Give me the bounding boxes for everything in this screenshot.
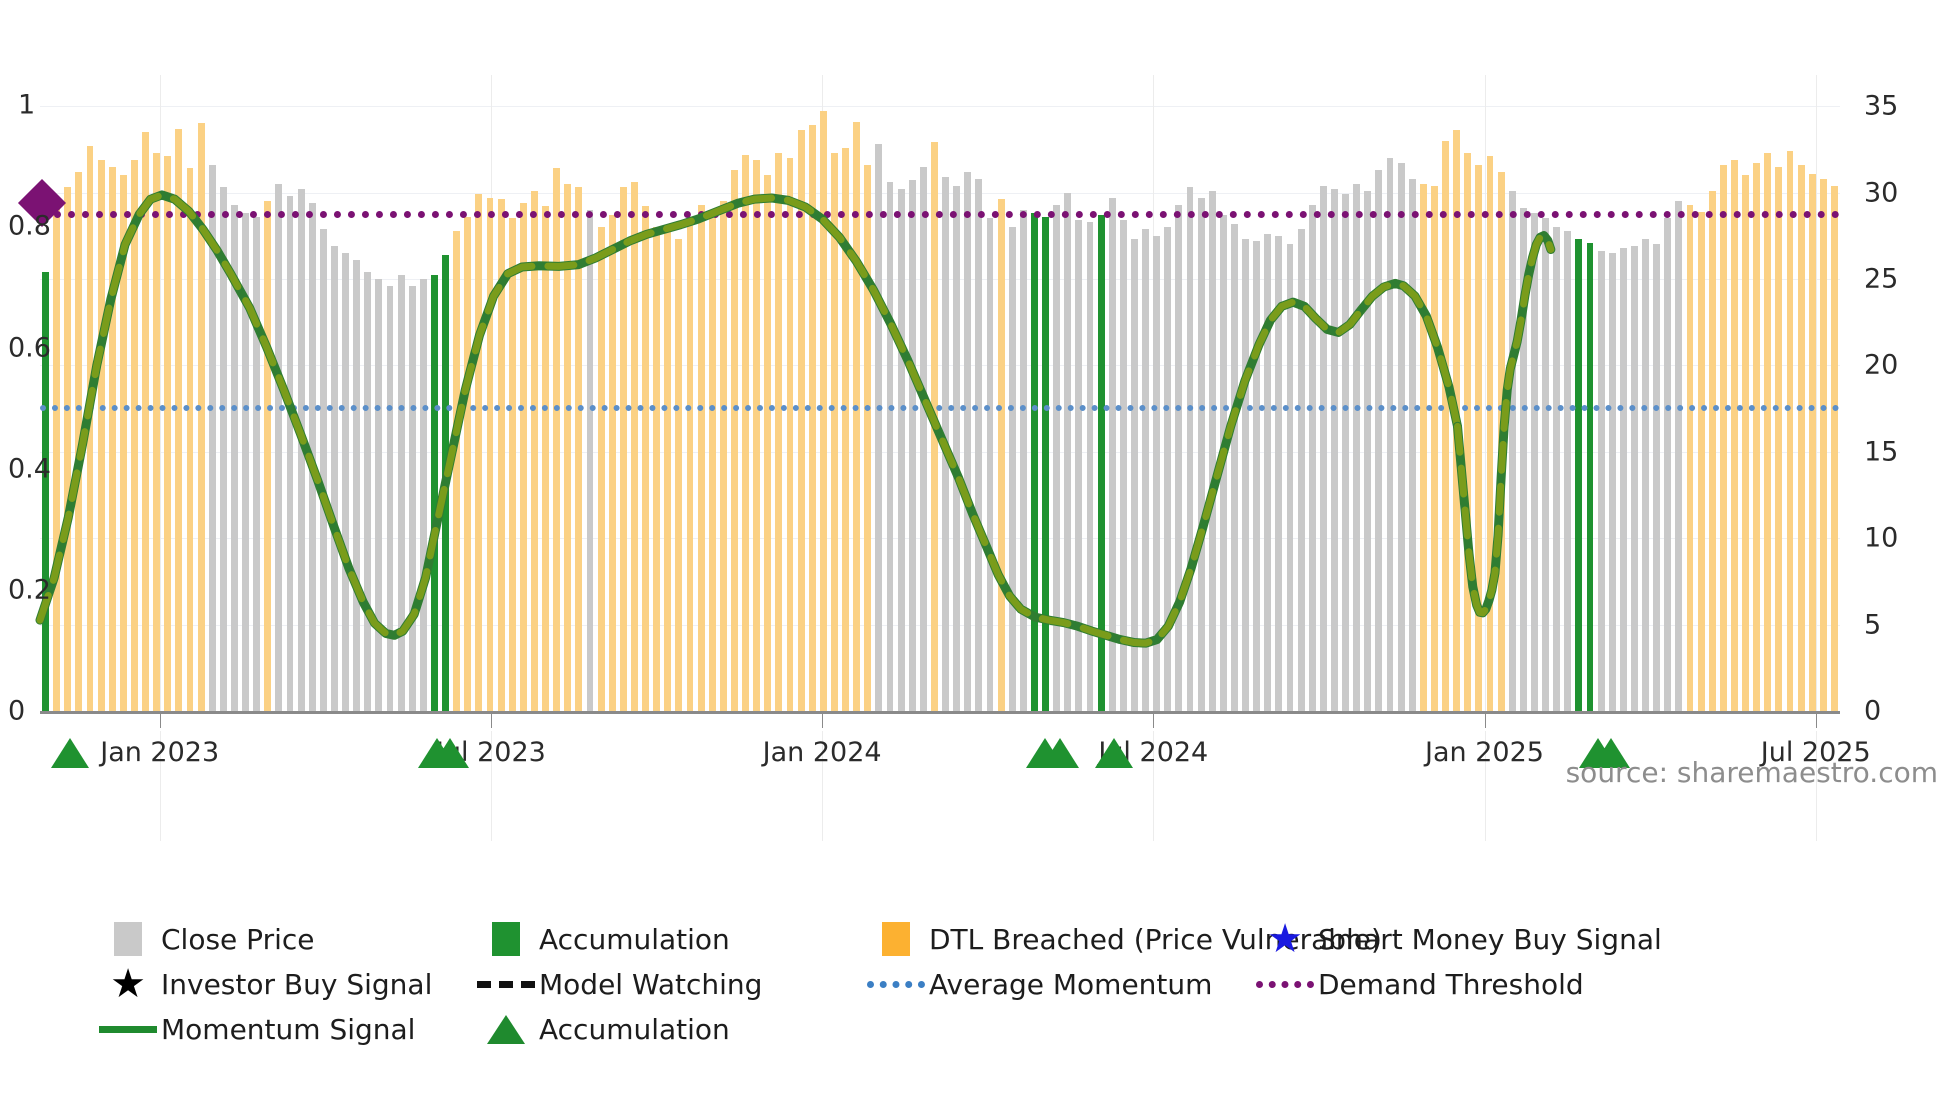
legend-item-average-momentum[interactable]: Average Momentum (863, 965, 1212, 1003)
y-tick-left: 0.4 (8, 453, 51, 484)
legend-label: Accumulation (539, 1013, 730, 1046)
legend-key (473, 981, 539, 988)
y-tick-left: 0 (8, 696, 25, 727)
x-tick-label: Jan 2025 (1425, 737, 1544, 768)
average-momentum-line-icon (867, 981, 925, 988)
legend-label: Close Price (161, 923, 314, 956)
legend-key: ★ (95, 967, 161, 1001)
legend-item-demand-threshold[interactable]: Demand Threshold (1252, 965, 1584, 1003)
momentum-signal-line (40, 75, 1840, 711)
accumulation-triangle-marker (51, 738, 89, 768)
legend-row: Close PriceAccumulationDTL Breached (Pri… (95, 920, 1885, 958)
x-tick-mark (491, 714, 492, 728)
y-tick-left: 0.2 (8, 574, 51, 605)
legend-item-momentum-signal[interactable]: Momentum Signal (95, 1010, 415, 1048)
legend-key (473, 922, 539, 956)
source-attribution: source: sharemaestro.com (1566, 756, 1938, 789)
y-tick-left: 0.6 (8, 332, 51, 363)
investor-star-icon: ★ (110, 967, 146, 1001)
legend-label: Demand Threshold (1318, 968, 1584, 1001)
legend-label: Smart Money Buy Signal (1318, 923, 1662, 956)
x-tick-label: Jan 2024 (763, 737, 882, 768)
accumulation-triangle-icon (487, 1015, 525, 1044)
legend-item-model-watching[interactable]: Model Watching (473, 965, 762, 1003)
legend-label: Investor Buy Signal (161, 968, 432, 1001)
x-tick-mark (822, 714, 823, 728)
legend-key (473, 1015, 539, 1044)
y-tick-right: 5 (1864, 609, 1881, 640)
momentum-signal-path-accent-2 (1458, 236, 1551, 613)
legend-label: Momentum Signal (161, 1013, 415, 1046)
legend-key (1252, 981, 1318, 988)
y-tick-right: 20 (1864, 350, 1898, 381)
legend-key (95, 1026, 161, 1033)
y-tick-right: 25 (1864, 263, 1898, 294)
accumulation-triangle-marker (1041, 738, 1079, 768)
legend-item-smart-money-star[interactable]: ★Smart Money Buy Signal (1252, 920, 1662, 958)
legend-key (95, 922, 161, 956)
accumulation-triangle-marker (431, 738, 469, 768)
y-tick-left: 0.8 (8, 211, 51, 242)
chart-legend: Close PriceAccumulationDTL Breached (Pri… (95, 920, 1885, 1055)
y-tick-right: 0 (1864, 696, 1881, 727)
legend-item-accumulation-triangle[interactable]: Accumulation (473, 1010, 730, 1048)
y-tick-right: 10 (1864, 523, 1898, 554)
x-axis-line (40, 711, 1840, 714)
accumulation-swatch-icon (492, 922, 520, 956)
chart-screenshot: 10.80.60.40.20 35302520151050 Jan 2023Ju… (0, 0, 1960, 1102)
y-tick-right: 15 (1864, 436, 1898, 467)
y-tick-right: 30 (1864, 177, 1898, 208)
legend-item-accumulation-bar[interactable]: Accumulation (473, 920, 730, 958)
legend-row: Momentum SignalAccumulation (95, 1010, 1885, 1048)
accumulation-triangle-marker (1095, 738, 1133, 768)
plot-area (40, 75, 1840, 711)
x-tick-mark (1816, 714, 1817, 728)
legend-key (863, 922, 929, 956)
legend-item-close-price[interactable]: Close Price (95, 920, 314, 958)
smart-money-star-icon: ★ (1267, 922, 1303, 956)
x-tick-mark (160, 714, 161, 728)
legend-label: Average Momentum (929, 968, 1212, 1001)
close-price-swatch-icon (114, 922, 142, 956)
dtl-breached-swatch-icon (882, 922, 910, 956)
legend-key: ★ (1252, 922, 1318, 956)
legend-item-investor-star[interactable]: ★Investor Buy Signal (95, 965, 432, 1003)
legend-key (863, 981, 929, 988)
legend-label: Model Watching (539, 968, 762, 1001)
y-tick-right: 35 (1864, 91, 1898, 122)
legend-label: Accumulation (539, 923, 730, 956)
x-tick-mark (1485, 714, 1486, 728)
momentum-signal-path-accent-1 (40, 195, 1458, 643)
demand-threshold-line-icon (1256, 981, 1314, 988)
x-tick-mark (1153, 714, 1154, 728)
model-watching-line-icon (477, 981, 535, 988)
momentum-signal-line-icon (99, 1026, 157, 1033)
x-tick-label: Jan 2023 (100, 737, 219, 768)
y-tick-left: 1 (18, 90, 35, 121)
momentum-signal-path-1 (40, 195, 1458, 643)
legend-row: ★Investor Buy SignalModel WatchingAverag… (95, 965, 1885, 1003)
